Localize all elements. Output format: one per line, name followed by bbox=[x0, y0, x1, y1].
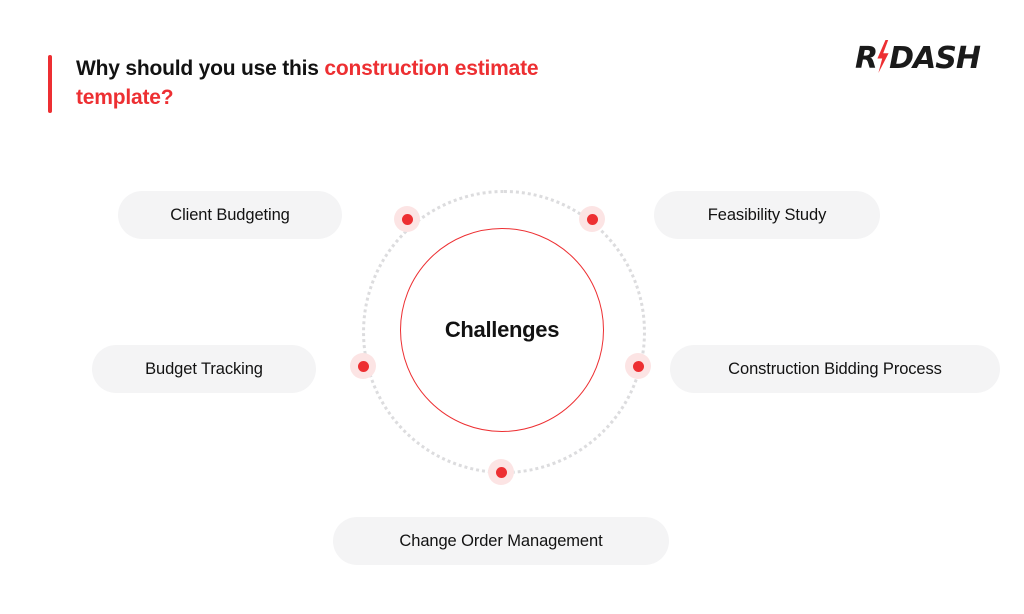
challenges-diagram: Challenges Client BudgetingFeasibility S… bbox=[0, 0, 1024, 614]
node-dot bbox=[579, 206, 605, 232]
node-pill-label: Feasibility Study bbox=[708, 206, 826, 225]
node-pill-label: Budget Tracking bbox=[145, 360, 263, 379]
node-dot bbox=[394, 206, 420, 232]
node-pill[interactable]: Client Budgeting bbox=[118, 191, 342, 239]
node-pill[interactable]: Budget Tracking bbox=[92, 345, 316, 393]
node-pill[interactable]: Change Order Management bbox=[333, 517, 669, 565]
node-dot bbox=[350, 353, 376, 379]
slide-canvas: Why should you use this construction est… bbox=[0, 0, 1024, 614]
center-hub-label: Challenges bbox=[445, 317, 559, 343]
node-dot bbox=[625, 353, 651, 379]
center-hub-circle: Challenges bbox=[400, 228, 604, 432]
node-pill-label: Construction Bidding Process bbox=[728, 360, 942, 379]
node-pill-label: Client Budgeting bbox=[170, 206, 289, 225]
node-dot bbox=[488, 459, 514, 485]
node-pill-label: Change Order Management bbox=[399, 532, 602, 551]
node-pill[interactable]: Feasibility Study bbox=[654, 191, 880, 239]
node-pill[interactable]: Construction Bidding Process bbox=[670, 345, 1000, 393]
